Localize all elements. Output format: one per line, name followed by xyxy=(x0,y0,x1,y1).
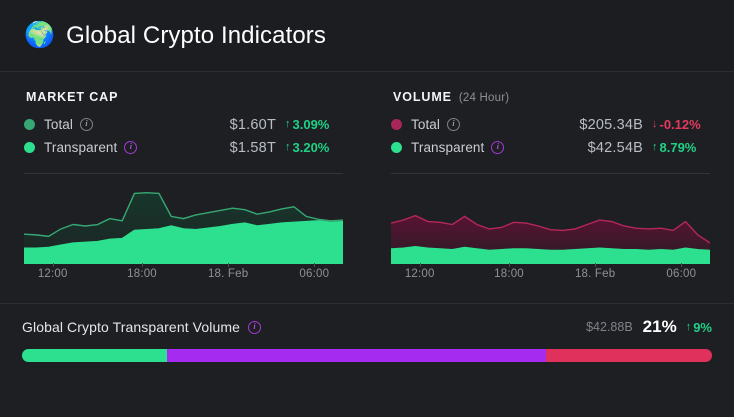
volume-row-transparent[interactable]: Transparent i $42.54B ↑8.79% xyxy=(391,136,710,159)
footer-top-row: Global Crypto Transparent Volume i $42.8… xyxy=(22,317,712,337)
axis-tick-label: 18. Feb xyxy=(575,268,615,280)
legend-dot-transparent xyxy=(391,142,402,153)
arrow-up-icon: ↑ xyxy=(686,322,692,333)
axis-tick-label: 06:00 xyxy=(299,268,329,280)
volume-subtitle: (24 Hour) xyxy=(459,92,509,104)
chart-canvas xyxy=(24,186,343,264)
axis-tickmark xyxy=(314,263,315,267)
axis-tickmark xyxy=(681,263,682,267)
arrow-up-icon: ↑ xyxy=(285,119,291,130)
row-label: Transparent xyxy=(44,140,117,155)
market-cap-chart-cell: 12:0018:0018. Feb06:00 xyxy=(0,173,367,286)
row-change: ↑3.20% xyxy=(285,140,343,155)
change-value: 3.20% xyxy=(293,140,330,155)
row-label: Total xyxy=(44,117,73,132)
market-cap-panel: MARKET CAP Total i $1.60T ↑3.09% Transpa… xyxy=(0,90,367,159)
change-value: 9% xyxy=(693,320,712,335)
row-value: $42.54B xyxy=(588,140,643,156)
market-cap-row-total[interactable]: Total i $1.60T ↑3.09% xyxy=(24,113,343,136)
axis-tickmark xyxy=(142,263,143,267)
market-cap-title: MARKET CAP xyxy=(26,90,118,104)
row-label: Transparent xyxy=(411,140,484,155)
volume-chart-cell: 12:0018:0018. Feb06:00 xyxy=(367,173,734,286)
volume-heading: VOLUME (24 Hour) xyxy=(393,90,710,104)
axis-tickmark xyxy=(53,263,54,267)
axis-tickmark xyxy=(595,263,596,267)
row-value: $1.58T xyxy=(230,140,276,156)
row-change: ↑3.09% xyxy=(285,117,343,132)
metrics-panels: MARKET CAP Total i $1.60T ↑3.09% Transpa… xyxy=(0,72,734,159)
row-label: Total xyxy=(411,117,440,132)
bar-segment-mid[interactable] xyxy=(167,349,547,362)
widget-header: 🌍 Global Crypto Indicators xyxy=(0,0,734,72)
info-icon[interactable]: i xyxy=(248,321,261,334)
row-change: ↓-0.12% xyxy=(652,117,710,132)
axis-tickmark xyxy=(509,263,510,267)
footer-label: Global Crypto Transparent Volume xyxy=(22,319,240,335)
axis-tick-label: 18. Feb xyxy=(208,268,248,280)
row-change: ↑8.79% xyxy=(652,140,710,155)
chart-canvas xyxy=(391,186,710,264)
bar-segment-other[interactable] xyxy=(546,349,712,362)
axis-tick-label: 12:00 xyxy=(405,268,435,280)
bar-segment-transparent[interactable] xyxy=(22,349,167,362)
info-icon[interactable]: i xyxy=(447,118,460,131)
legend-dot-transparent xyxy=(24,142,35,153)
footer-value: $42.88B xyxy=(586,320,633,334)
legend-dot-total xyxy=(24,119,35,130)
chart-divider xyxy=(24,173,343,174)
globe-icon: 🌍 xyxy=(24,23,55,48)
row-value: $1.60T xyxy=(230,117,276,133)
info-icon[interactable]: i xyxy=(80,118,93,131)
footer-percent: 21% xyxy=(643,317,677,337)
market-cap-chart[interactable] xyxy=(24,186,343,264)
row-value: $205.34B xyxy=(579,117,643,133)
market-cap-row-transparent[interactable]: Transparent i $1.58T ↑3.20% xyxy=(24,136,343,159)
page-title: Global Crypto Indicators xyxy=(66,22,326,50)
volume-title: VOLUME xyxy=(393,90,452,104)
axis-tickmark xyxy=(228,263,229,267)
arrow-up-icon: ↑ xyxy=(285,142,291,153)
market-cap-heading: MARKET CAP xyxy=(26,90,343,104)
info-icon[interactable]: i xyxy=(124,141,137,154)
volume-row-total[interactable]: Total i $205.34B ↓-0.12% xyxy=(391,113,710,136)
axis-tick-label: 12:00 xyxy=(38,268,68,280)
arrow-up-icon: ↑ xyxy=(652,142,658,153)
axis-tickmark xyxy=(420,263,421,267)
legend-dot-total xyxy=(391,119,402,130)
change-value: 3.09% xyxy=(293,117,330,132)
transparent-volume-footer: Global Crypto Transparent Volume i $42.8… xyxy=(0,304,734,362)
change-value: 8.79% xyxy=(660,140,697,155)
change-value: -0.12% xyxy=(660,117,701,132)
volume-chart-axis: 12:0018:0018. Feb06:00 xyxy=(391,268,710,286)
chart-divider xyxy=(391,173,710,174)
transparent-volume-bar[interactable] xyxy=(22,349,712,362)
volume-panel: VOLUME (24 Hour) Total i $205.34B ↓-0.12… xyxy=(367,90,734,159)
axis-tick-label: 06:00 xyxy=(666,268,696,280)
footer-change: ↑9% xyxy=(686,320,712,335)
axis-tick-label: 18:00 xyxy=(127,268,157,280)
axis-tick-label: 18:00 xyxy=(494,268,524,280)
market-cap-chart-axis: 12:0018:0018. Feb06:00 xyxy=(24,268,343,286)
charts-section: 12:0018:0018. Feb06:00 12:0018:0018. Feb… xyxy=(0,159,734,286)
volume-chart[interactable] xyxy=(391,186,710,264)
arrow-down-icon: ↓ xyxy=(652,119,658,130)
info-icon[interactable]: i xyxy=(491,141,504,154)
crypto-indicators-widget: 🌍 Global Crypto Indicators MARKET CAP To… xyxy=(0,0,734,417)
